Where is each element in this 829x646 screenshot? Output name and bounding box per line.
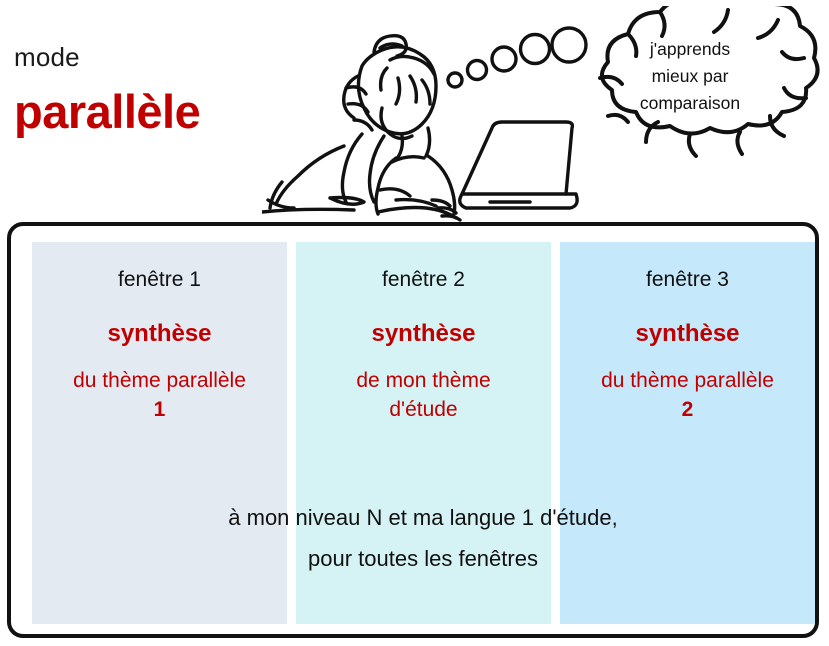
thought-line-2: mieux par: [556, 63, 824, 90]
panel-1-subtitle: du thème parallèle 1: [32, 367, 287, 424]
panel-2-heading: fenêtre 2: [296, 268, 551, 291]
panel-3-subtitle-text: du thème parallèle: [601, 369, 774, 392]
panel-1-subtitle-text: du thème parallèle: [73, 369, 246, 392]
panel-fenetre-3[interactable]: fenêtre 3 synthèse du thème parallèle 2: [560, 242, 815, 624]
panel-fenetre-2[interactable]: fenêtre 2 synthèse de mon thème d'étude: [296, 242, 551, 624]
windows-container: fenêtre 1 synthèse du thème parallèle 1 …: [7, 222, 819, 638]
thought-bubble: j'apprends mieux par comparaison: [556, 6, 824, 170]
panel-2-subtitle: de mon thème d'étude: [296, 367, 551, 424]
panel-2-number: d'étude: [298, 396, 549, 424]
panel-1-number: 1: [34, 396, 285, 424]
thought-line-3: comparaison: [556, 90, 824, 117]
mode-label: mode: [14, 44, 80, 70]
panel-1-heading: fenêtre 1: [32, 268, 287, 291]
thought-line-1: j'apprends: [556, 36, 824, 63]
panel-2-subtitle-text: de mon thème: [356, 369, 490, 392]
panel-fenetre-1[interactable]: fenêtre 1 synthèse du thème parallèle 1: [32, 242, 287, 624]
panel-3-synthese: synthèse: [560, 321, 815, 347]
header-region: mode parallèle: [0, 0, 829, 222]
thought-bubble-text: j'apprends mieux par comparaison: [556, 36, 824, 117]
panel-2-synthese: synthèse: [296, 321, 551, 347]
panel-1-synthese: synthèse: [32, 321, 287, 347]
panel-3-number: 2: [562, 396, 813, 424]
mode-title: parallèle: [14, 88, 200, 135]
panel-3-subtitle: du thème parallèle 2: [560, 367, 815, 424]
panel-3-heading: fenêtre 3: [560, 268, 815, 291]
panels-row: fenêtre 1 synthèse du thème parallèle 1 …: [32, 242, 814, 624]
